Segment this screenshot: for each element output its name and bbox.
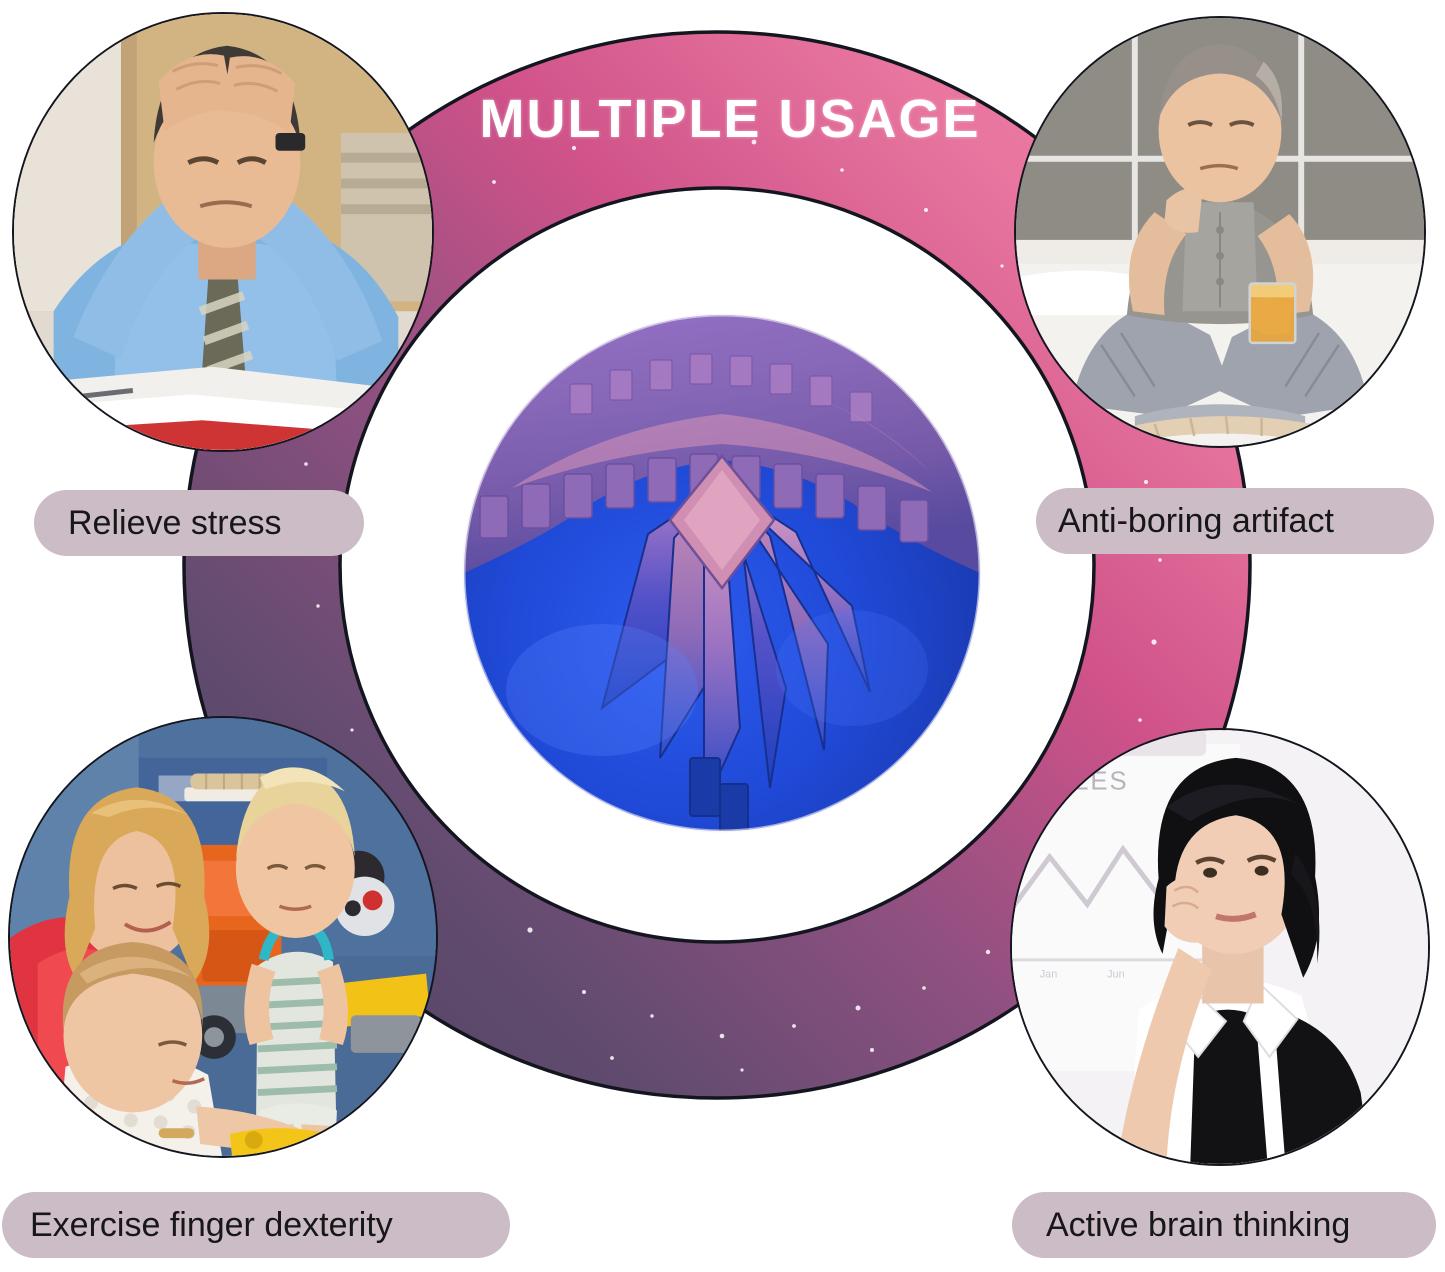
photo-bored-office-woman: SALES JanJunDec — [1010, 728, 1430, 1166]
photo-mother-with-children — [8, 716, 438, 1158]
gear-fidget-ball-image — [452, 288, 992, 848]
svg-text:Jun: Jun — [1107, 969, 1125, 981]
photo-bored-man-on-bed — [1014, 16, 1426, 448]
caption-label: Active brain thinking — [1046, 1208, 1350, 1242]
photo-stressed-office-man — [12, 12, 434, 452]
caption-label: Exercise finger dexterity — [30, 1208, 393, 1242]
caption-active-brain-thinking: Active brain thinking — [1012, 1192, 1436, 1258]
caption-label: Anti-boring artifact — [1058, 504, 1334, 538]
caption-label: Relieve stress — [68, 506, 282, 540]
caption-relieve-stress: Relieve stress — [34, 490, 364, 556]
page-title: MULTIPLE USAGE — [420, 92, 1040, 146]
caption-anti-boring-artifact: Anti-boring artifact — [1036, 488, 1434, 554]
svg-text:Jan: Jan — [1040, 969, 1058, 981]
caption-exercise-finger-dexterity: Exercise finger dexterity — [2, 1192, 510, 1258]
infographic-canvas: MULTIPLE USAGE — [0, 0, 1445, 1272]
